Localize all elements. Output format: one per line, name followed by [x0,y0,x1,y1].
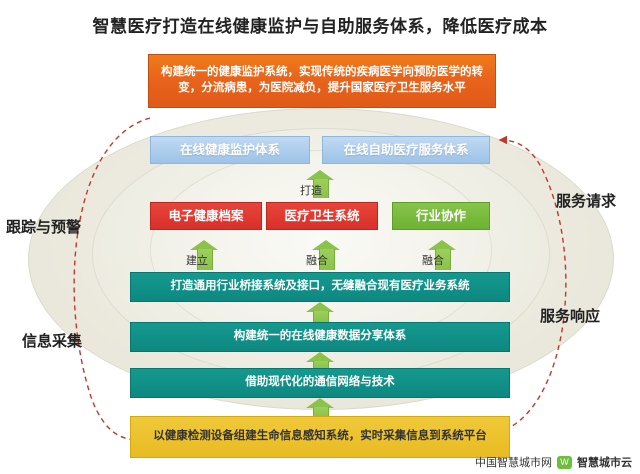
box-industry-collaboration: 行业协作 [392,202,490,230]
side-label-info-collection: 信息采集 [22,330,82,351]
label-ronghe-1: 融合 [306,252,328,268]
label-jianli: 建立 [186,252,208,268]
arrow-up-teal-1 [306,302,334,322]
arrow-up-teal-3 [306,398,334,416]
box-sensing-platform: 以健康检测设备组建生命信息感知系统，实时采集信息到系统平台 [130,416,510,458]
box-bridge-system: 打造通用行业桥接系统及接口，无缝融合现有医疗业务系统 [130,272,510,302]
diagram-canvas: 智慧医疗打造在线健康监护与自助服务体系，降低医疗成本 构建统一的健康监护系统，实… [0,0,640,474]
box-communication-network: 借助现代化的通信网络与技术 [130,368,510,398]
box-top-orange: 构建统一的健康监护系统，实现传统的疾病医学向预防医学的转变，分流病患，为医院减负… [148,54,496,108]
page-title: 智慧医疗打造在线健康监护与自助服务体系，降低医疗成本 [0,12,640,37]
label-dazao: 打造 [300,182,322,198]
box-electronic-health-record: 电子健康档案 [150,202,262,230]
box-data-sharing: 构建统一的在线健康数据分享体系 [130,322,510,352]
label-ronghe-2: 融合 [422,252,444,268]
box-online-health-monitoring: 在线健康监护体系 [150,136,310,164]
footer-account: 智慧城市云 [577,454,632,470]
wechat-icon: W [557,456,572,469]
side-label-tracking-warning: 跟踪与预警 [6,216,81,237]
footer: 中国智慧城市网 W 智慧城市云 [475,454,632,470]
side-label-service-response: 服务响应 [540,305,600,326]
box-medical-health-system: 医疗卫生系统 [266,202,378,230]
arrow-up-teal-2 [306,352,334,368]
side-label-service-request: 服务请求 [556,190,616,211]
footer-source: 中国智慧城市网 [475,454,552,470]
box-online-self-service: 在线自助医疗服务体系 [322,136,490,164]
